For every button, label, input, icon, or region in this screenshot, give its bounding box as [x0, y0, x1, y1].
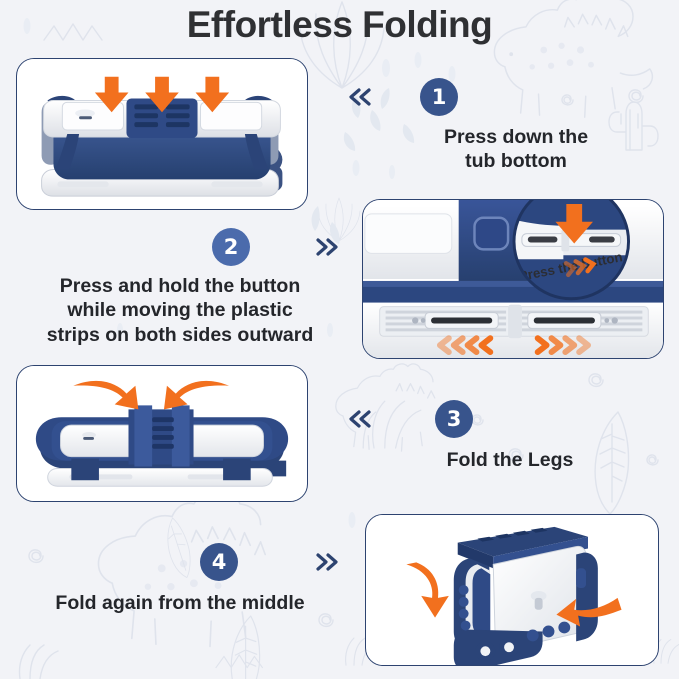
- step-1-badge: 1: [420, 78, 458, 116]
- chevron-right-icon: [312, 549, 342, 575]
- chevron-left-icon: [345, 406, 375, 432]
- step-1-header: 1: [345, 78, 665, 116]
- step-2-block: 2 Press and hold the button while moving…: [18, 228, 342, 347]
- step-1-block: 1 Press down the tub bottom: [345, 78, 665, 174]
- step-4-text: Fold again from the middle: [18, 591, 342, 615]
- page-title: Effortless Folding: [0, 4, 679, 46]
- step-2-header: 2: [18, 228, 342, 266]
- chevron-right-icon: [312, 234, 342, 260]
- step-2-text: Press and hold the button while moving t…: [18, 274, 342, 347]
- infographic-stage: Effortless Folding: [0, 0, 679, 679]
- step-1-text: Press down the tub bottom: [345, 125, 665, 174]
- step-3-text: Fold the Legs: [345, 448, 665, 472]
- tub-press-bottom-photo: [16, 58, 308, 210]
- step-3-header: 3: [345, 400, 665, 438]
- step-4-header: 4: [18, 543, 342, 581]
- step-4-block: 4 Fold again from the middle: [18, 543, 342, 615]
- tub-fold-legs-photo: [16, 365, 308, 502]
- step-3-block: 3 Fold the Legs: [345, 400, 665, 472]
- step-3-badge: 3: [435, 400, 473, 438]
- down-arrows: [95, 77, 229, 113]
- tub-folded-upright-photo: [365, 514, 659, 666]
- tub-press-button-photo: Press the button: [362, 199, 664, 359]
- chevron-left-icon: [345, 84, 375, 110]
- step-4-badge: 4: [200, 543, 238, 581]
- step-2-badge: 2: [212, 228, 250, 266]
- press-button-inset: Press the button: [514, 200, 629, 299]
